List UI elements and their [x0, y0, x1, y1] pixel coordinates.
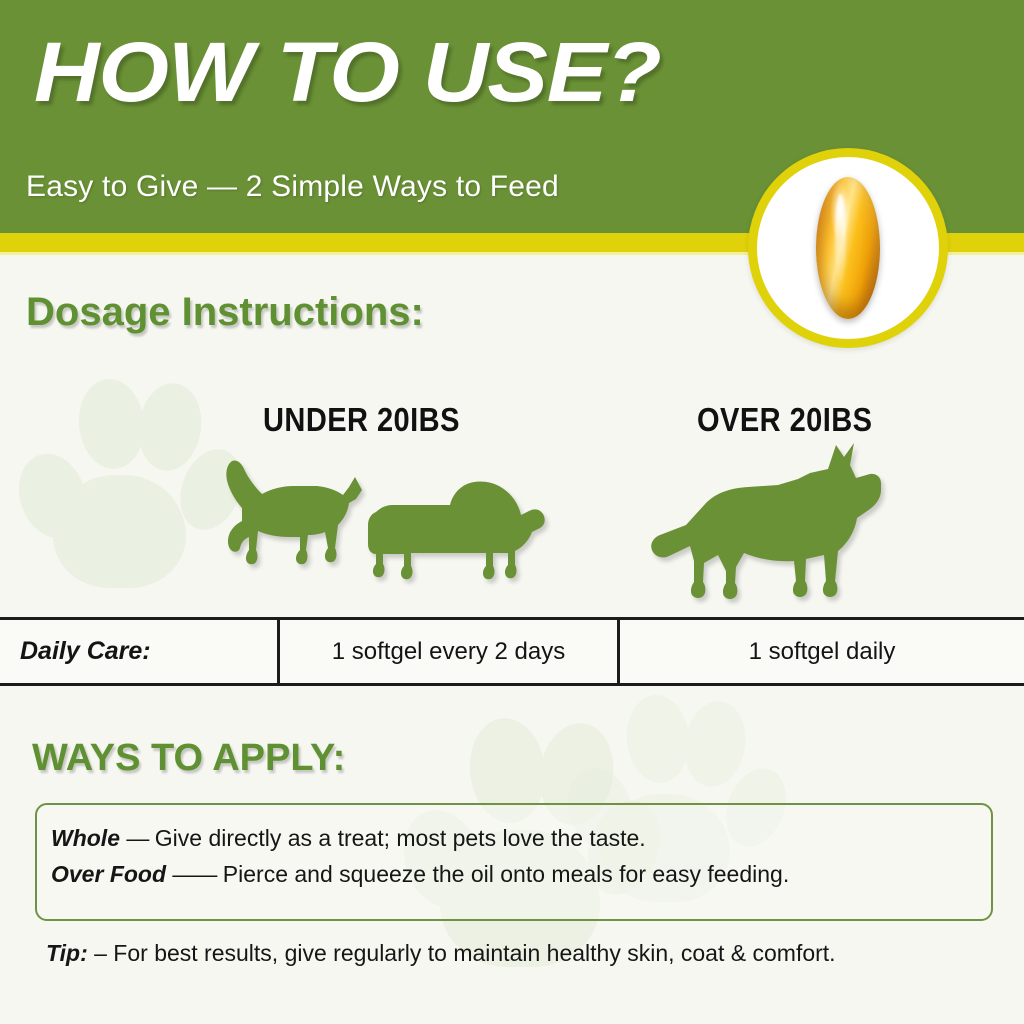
softgel-capsule-icon	[816, 177, 880, 319]
big-dog-silhouette	[648, 443, 898, 603]
apply-method-text: Pierce and squeeze the oil onto meals fo…	[223, 861, 789, 887]
table-cell-under-value: 1 softgel every 2 days	[277, 620, 617, 683]
apply-method-text: Give directly as a treat; most pets love…	[155, 825, 646, 851]
apply-method-dash: ——	[172, 861, 216, 887]
page-subtitle: Easy to Give — 2 Simple Ways to Feed	[26, 168, 559, 206]
apply-method-whole: Whole — Give directly as a treat; most p…	[51, 825, 646, 852]
ways-to-apply-heading: WAYS TO APPLY:	[32, 737, 345, 780]
cat-silhouette	[222, 455, 372, 580]
table-cell-over-value: 1 softgel daily	[617, 620, 1024, 683]
apply-method-term: Whole	[51, 825, 120, 851]
dosage-table: Daily Care: 1 softgel every 2 days 1 sof…	[0, 617, 1024, 686]
dosage-heading: Dosage Instructions:	[26, 290, 424, 335]
infographic-page: HOW TO USE? Easy to Give — 2 Simple Ways…	[0, 0, 1024, 1024]
page-title: HOW TO USE?	[34, 24, 661, 120]
softgel-capsule-badge	[748, 148, 948, 348]
table-row-label: Daily Care:	[0, 620, 277, 683]
tip-label: Tip:	[46, 940, 88, 966]
tip-text: – For best results, give regularly to ma…	[94, 940, 835, 966]
dachshund-silhouette	[368, 470, 546, 582]
paw-print-watermark	[14, 374, 229, 599]
tip-note: Tip: – For best results, give regularly …	[46, 940, 836, 967]
apply-method-over-food: Over Food —— Pierce and squeeze the oil …	[51, 861, 789, 888]
weight-label-over: OVER 20IBS	[697, 401, 872, 439]
apply-method-dash: —	[126, 825, 148, 851]
ways-to-apply-box: Whole — Give directly as a treat; most p…	[35, 803, 993, 921]
apply-method-term: Over Food	[51, 861, 166, 887]
weight-label-under: UNDER 20IBS	[263, 401, 460, 439]
capsule-highlight-icon	[835, 194, 846, 282]
